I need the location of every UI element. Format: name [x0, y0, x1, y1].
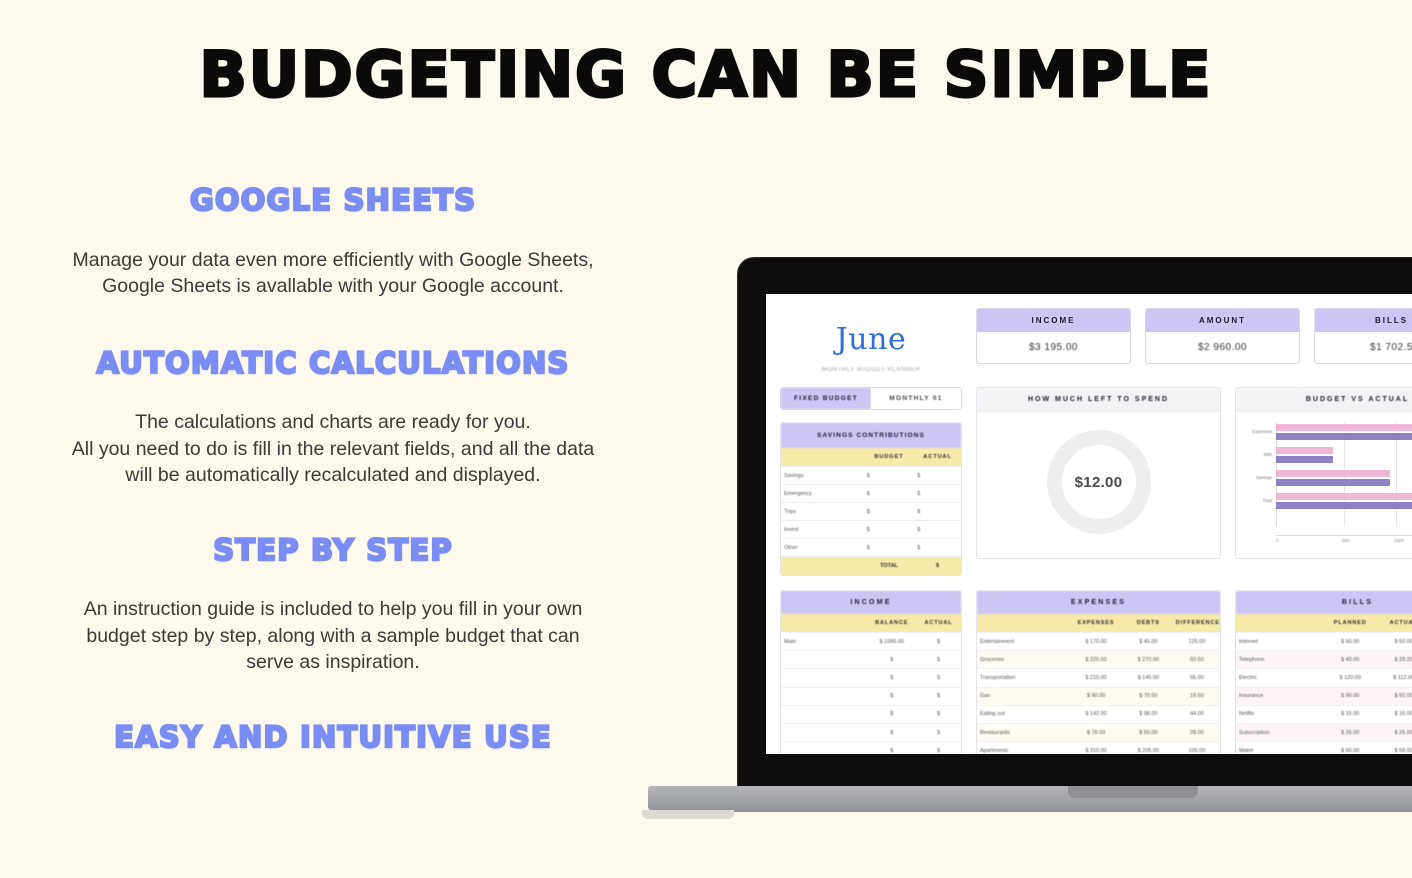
spreadsheet-header-row: June MONTHLY BUDGET PLANNER INCOME $3 19… — [780, 308, 1412, 373]
cell-name: Emergency — [781, 485, 864, 502]
cell-planned: $ 50.00 — [1323, 633, 1376, 650]
table-row[interactable]: Entertainment$ 170.00$ 45.00125.00 — [977, 632, 1220, 650]
x-axis — [1276, 535, 1412, 536]
x-tick: 500 — [1342, 538, 1350, 543]
donut-ring: $12.00 — [1047, 430, 1151, 534]
section-heading-step-by-step: STEP BY STEP — [48, 530, 618, 571]
expenses-table: EXPENSES EXPENSES DEBTS DIFFERENCE Enter… — [976, 590, 1221, 754]
cell-name: Apartments — [977, 742, 1069, 754]
bills-table-title: BILLS — [1236, 591, 1412, 614]
cell-actual: $ — [916, 633, 961, 650]
x-tick: 1000 — [1394, 538, 1404, 543]
savings-column: FIXED BUDGET MONTHLY 01 SAVINGS CONTRIBU… — [780, 387, 962, 576]
cell-actual: $ — [914, 485, 961, 502]
savings-col-budget: BUDGET — [864, 448, 914, 466]
left-to-spend-panel: HOW MUCH LEFT TO SPEND $12.00 — [976, 387, 1221, 559]
savings-contributions-table: SAVINGS CONTRIBUTIONS BUDGET ACTUAL Savi… — [780, 422, 962, 576]
month-title: June — [780, 322, 962, 357]
savings-table-title: SAVINGS CONTRIBUTIONS — [781, 423, 961, 448]
cell-planned: $ 120.00 — [1323, 669, 1376, 686]
cell-name: Main — [781, 633, 867, 650]
cell-actual: $ — [916, 742, 961, 754]
cell-name — [781, 706, 867, 723]
cell-name: Subscription — [1236, 724, 1323, 741]
cell-name — [781, 669, 867, 686]
laptop-base-notch — [1068, 786, 1198, 798]
expenses-col-expenses: EXPENSES — [1069, 614, 1122, 632]
spreadsheet-middle-row: FIXED BUDGET MONTHLY 01 SAVINGS CONTRIBU… — [780, 387, 1412, 576]
laptop-lid: June MONTHLY BUDGET PLANNER INCOME $3 19… — [738, 258, 1412, 788]
expenses-table-header: EXPENSES DEBTS DIFFERENCE — [977, 614, 1220, 632]
stat-card-amount-label: AMOUNT — [1146, 309, 1299, 332]
bar-group-total: Total — [1276, 493, 1412, 509]
left-to-spend-title: HOW MUCH LEFT TO SPEND — [977, 388, 1220, 412]
cell-balance: $ — [867, 724, 916, 741]
bar-actual — [1276, 433, 1412, 440]
bills-table: BILLS PLANNED ACTUAL DIFF Internet$ 50.0… — [1235, 590, 1412, 754]
cell-name: Trips — [781, 503, 864, 520]
income-col-name — [781, 614, 867, 632]
x-tick-labels: 0 500 1000 1500 — [1276, 538, 1412, 550]
expenses-col-difference: DIFFERENCE — [1174, 614, 1220, 632]
laptop-base — [648, 786, 1412, 812]
cell-planned: $ 60.00 — [1323, 742, 1376, 754]
cell-actual: $ — [916, 669, 961, 686]
table-row[interactable]: Emergency $ $ — [781, 484, 961, 502]
table-row[interactable]: Restaurants$ 78.00$ 50.0028.00 — [977, 723, 1220, 741]
cell-balance: $ — [867, 742, 916, 754]
stat-card-amount[interactable]: AMOUNT $2 960.00 — [1145, 308, 1300, 364]
table-row[interactable]: Internet$ 50.00$ 50.000 — [1236, 632, 1412, 650]
cell-name: Netflix — [1236, 706, 1323, 723]
tab-monthly[interactable]: MONTHLY 01 — [871, 388, 961, 409]
income-col-actual: ACTUAL — [916, 614, 961, 632]
cell-difference: 105.00 — [1174, 742, 1220, 754]
table-row[interactable]: Invest $ $ — [781, 520, 961, 538]
footer-total-value: $ — [914, 557, 961, 575]
budget-vs-actual-panel: BUDGET VS ACTUAL Expenses — [1235, 387, 1412, 559]
cell-name: Telephone — [1236, 651, 1323, 668]
cell-balance: $ — [867, 706, 916, 723]
section-heading-easy-intuitive: EASY AND INTUITIVE USE — [48, 717, 618, 758]
cell-balance: $ — [867, 688, 916, 705]
slide-root: BUDGETING CAN BE SIMPLE GOOGLE SHEETS Ma… — [0, 0, 1412, 878]
cell-budget: $ — [864, 503, 914, 520]
laptop-mockup: June MONTHLY BUDGET PLANNER INCOME $3 19… — [738, 258, 1412, 818]
cell-actual: $ — [914, 467, 961, 484]
cell-name: Groceries — [977, 651, 1069, 668]
table-row[interactable]: Subscription$ 26.00$ 26.000 — [1236, 723, 1412, 741]
savings-col-name — [781, 448, 864, 466]
cell-name: Invest — [781, 521, 864, 538]
table-row[interactable]: Groceries$ 320.50$ 270.0050.50 — [977, 650, 1220, 668]
cell-expenses: $ 90.00 — [1069, 688, 1122, 705]
stat-card-bills-label: BILLS — [1315, 309, 1412, 332]
savings-table-header: BUDGET ACTUAL — [781, 448, 961, 466]
table-row[interactable]: Transportation$ 210.00$ 145.0065.00 — [977, 668, 1220, 686]
cell-budget: $ — [864, 467, 914, 484]
cell-difference: 28.00 — [1174, 724, 1220, 741]
feature-section-step-by-step: STEP BY STEP An instruction guide is inc… — [48, 530, 618, 675]
table-row[interactable]: Electric$ 120.00$ 112.008.00 — [1236, 668, 1412, 686]
cell-debts: $ 98.00 — [1123, 706, 1174, 723]
cell-expenses: $ 320.50 — [1069, 651, 1122, 668]
bar-actual — [1276, 479, 1390, 486]
footer-total-label: TOTAL — [864, 557, 914, 575]
stat-card-amount-value: $2 960.00 — [1146, 332, 1299, 363]
savings-table-footer: TOTAL $ — [781, 556, 961, 575]
cell-actual: $ — [916, 724, 961, 741]
cell-name: Gas — [977, 688, 1069, 705]
cell-expenses: $ 142.00 — [1069, 706, 1122, 723]
table-row[interactable]: Savings $ $ — [781, 466, 961, 484]
feature-section-automatic-calculations: AUTOMATIC CALCULATIONS The calculations … — [48, 343, 618, 488]
cell-actual: $ 92.00 — [1377, 688, 1412, 705]
cell-name — [781, 651, 867, 668]
stat-card-bills[interactable]: BILLS $1 702.5 — [1314, 308, 1412, 364]
cell-actual: $ 39.20 — [1377, 651, 1412, 668]
cell-debts: $ 145.00 — [1123, 669, 1174, 686]
cell-balance: $ — [867, 669, 916, 686]
cell-name: Entertainment — [977, 633, 1069, 650]
bar-chart-title: BUDGET VS ACTUAL — [1236, 388, 1412, 412]
cell-debts: $ 50.00 — [1123, 724, 1174, 741]
table-row[interactable]: Other $ $ — [781, 538, 961, 556]
cell-expenses: $ 170.00 — [1069, 633, 1122, 650]
cell-actual: $ 58.00 — [1377, 742, 1412, 754]
features-column: GOOGLE SHEETS Manage your data even more… — [48, 180, 618, 763]
bar-budget — [1276, 424, 1412, 431]
table-row[interactable]: $$ — [781, 705, 961, 723]
cell-budget: $ — [864, 485, 914, 502]
bar-actual — [1276, 502, 1412, 509]
cell-actual: $ — [914, 539, 961, 556]
cell-difference: 19.50 — [1174, 688, 1220, 705]
income-table-header: BALANCE ACTUAL — [781, 614, 961, 632]
cell-actual: $ 50.00 — [1377, 633, 1412, 650]
table-row[interactable]: $$ — [781, 741, 961, 754]
cell-planned: $ 15.00 — [1323, 706, 1376, 723]
cell-actual: $ — [916, 688, 961, 705]
bar-chart: Expenses Bills Savin — [1236, 412, 1412, 552]
laptop-screen: June MONTHLY BUDGET PLANNER INCOME $3 19… — [766, 294, 1412, 754]
month-block: June MONTHLY BUDGET PLANNER — [780, 308, 962, 373]
laptop-base-foot — [642, 810, 734, 819]
cell-difference: 65.00 — [1174, 669, 1220, 686]
bar-group-bills: Bills — [1276, 447, 1412, 463]
stat-card-income[interactable]: INCOME $3 195.00 — [976, 308, 1131, 364]
stat-card-bills-value: $1 702.5 — [1315, 332, 1412, 363]
stat-card-income-label: INCOME — [977, 309, 1130, 332]
expenses-col-debts: DEBTS — [1123, 614, 1174, 632]
bills-col-actual: ACTUAL — [1377, 614, 1412, 632]
spreadsheet: June MONTHLY BUDGET PLANNER INCOME $3 19… — [766, 294, 1412, 754]
cell-name — [781, 688, 867, 705]
donut-chart: $12.00 — [977, 412, 1220, 552]
cell-debts: $ 205.00 — [1123, 742, 1174, 754]
bar-label: Expenses — [1238, 429, 1272, 434]
page-title: BUDGETING CAN BE SIMPLE — [0, 38, 1412, 111]
cell-name: Water — [1236, 742, 1323, 754]
income-table-title: INCOME — [781, 591, 961, 614]
month-subtitle: MONTHLY BUDGET PLANNER — [780, 367, 962, 373]
cell-balance: $ 1095.00 — [867, 633, 916, 650]
section-body-step-by-step: An instruction guide is included to help… — [48, 596, 618, 674]
cell-name: Savings — [781, 467, 864, 484]
cell-name: Eating out — [977, 706, 1069, 723]
section-heading-automatic-calculations: AUTOMATIC CALCULATIONS — [48, 343, 618, 384]
bills-col-name — [1236, 614, 1323, 632]
bar-actual — [1276, 456, 1333, 463]
income-table: INCOME BALANCE ACTUAL Main$ 1095.00$ $$ … — [780, 590, 962, 754]
cell-difference: 44.00 — [1174, 706, 1220, 723]
cell-difference: 50.50 — [1174, 651, 1220, 668]
bills-col-planned: PLANNED — [1323, 614, 1376, 632]
cell-name: Other — [781, 539, 864, 556]
table-row[interactable]: $$ — [781, 668, 961, 686]
cell-actual: $ — [914, 503, 961, 520]
cell-name: Electric — [1236, 669, 1323, 686]
bar-label: Total — [1238, 498, 1272, 503]
bar-label: Bills — [1238, 452, 1272, 457]
cell-debts: $ 45.00 — [1123, 633, 1174, 650]
tab-fixed-budget[interactable]: FIXED BUDGET — [781, 388, 871, 409]
table-row[interactable]: Trips $ $ — [781, 502, 961, 520]
table-row[interactable]: Apartments$ 310.00$ 205.00105.00 — [977, 741, 1220, 754]
section-body-automatic-calculations: The calculations and charts are ready fo… — [48, 409, 618, 487]
cell-name — [781, 742, 867, 754]
table-row[interactable]: Main$ 1095.00$ — [781, 632, 961, 650]
cell-debts: $ 70.50 — [1123, 688, 1174, 705]
cell-planned: $ 26.00 — [1323, 724, 1376, 741]
x-tick: 0 — [1276, 538, 1279, 543]
cell-difference: 125.00 — [1174, 633, 1220, 650]
sheet-tabs: FIXED BUDGET MONTHLY 01 — [780, 387, 962, 410]
feature-section-google-sheets: GOOGLE SHEETS Manage your data even more… — [48, 180, 618, 299]
table-row[interactable]: Gas$ 90.00$ 70.5019.50 — [977, 687, 1220, 705]
bar-budget — [1276, 447, 1333, 454]
stat-card-income-value: $3 195.00 — [977, 332, 1130, 363]
cell-name: Restaurants — [977, 724, 1069, 741]
bar-budget — [1276, 493, 1412, 500]
cell-actual: $ — [916, 651, 961, 668]
spreadsheet-bottom-row: INCOME BALANCE ACTUAL Main$ 1095.00$ $$ … — [780, 590, 1412, 754]
footer-blank — [781, 557, 864, 575]
expenses-col-name — [977, 614, 1069, 632]
savings-col-actual: ACTUAL — [914, 448, 961, 466]
section-body-google-sheets: Manage your data even more efficiently w… — [48, 247, 618, 299]
table-row[interactable]: Insurance$ 90.00$ 92.00-2.00 — [1236, 687, 1412, 705]
bar-group-expenses: Expenses — [1276, 424, 1412, 440]
feature-section-easy-intuitive: EASY AND INTUITIVE USE — [48, 717, 618, 758]
bar-group-savings: Savings — [1276, 470, 1412, 486]
cell-actual: $ — [914, 521, 961, 538]
cell-debts: $ 270.00 — [1123, 651, 1174, 668]
cell-name: Insurance — [1236, 688, 1323, 705]
expenses-table-title: EXPENSES — [977, 591, 1220, 614]
table-row[interactable]: $$ — [781, 723, 961, 741]
cell-expenses: $ 210.00 — [1069, 669, 1122, 686]
bar-label: Savings — [1238, 475, 1272, 480]
cell-expenses: $ 310.00 — [1069, 742, 1122, 754]
cell-name: Transportation — [977, 669, 1069, 686]
income-col-balance: BALANCE — [867, 614, 916, 632]
table-row[interactable]: Telephone$ 40.00$ 39.200.80 — [1236, 650, 1412, 668]
donut-center-value: $12.00 — [1075, 474, 1123, 491]
cell-budget: $ — [864, 539, 914, 556]
cell-actual: $ 112.00 — [1377, 669, 1412, 686]
section-heading-google-sheets: GOOGLE SHEETS — [48, 180, 618, 221]
table-row[interactable]: Netflix$ 15.00$ 15.000 — [1236, 705, 1412, 723]
table-row[interactable]: $$ — [781, 650, 961, 668]
cell-expenses: $ 78.00 — [1069, 724, 1122, 741]
cell-name — [781, 724, 867, 741]
bills-table-header: PLANNED ACTUAL DIFF — [1236, 614, 1412, 632]
cell-balance: $ — [867, 651, 916, 668]
cell-actual: $ 26.00 — [1377, 724, 1412, 741]
table-row[interactable]: Water$ 60.00$ 58.002.00 — [1236, 741, 1412, 754]
cell-planned: $ 40.00 — [1323, 651, 1376, 668]
table-row[interactable]: $$ — [781, 687, 961, 705]
cell-actual: $ — [916, 706, 961, 723]
cell-name: Internet — [1236, 633, 1323, 650]
cell-planned: $ 90.00 — [1323, 688, 1376, 705]
cell-actual: $ 15.00 — [1377, 706, 1412, 723]
table-row[interactable]: Eating out$ 142.00$ 98.0044.00 — [977, 705, 1220, 723]
bar-budget — [1276, 470, 1390, 477]
cell-budget: $ — [864, 521, 914, 538]
